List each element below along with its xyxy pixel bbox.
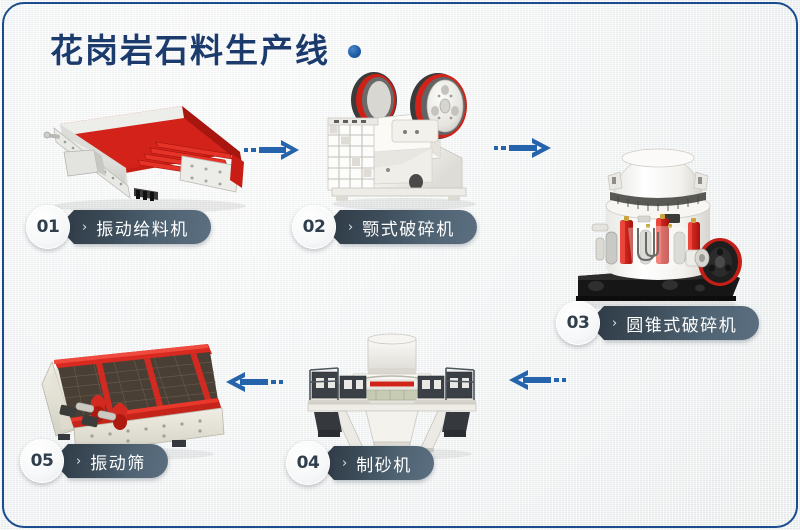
- chevron-right-icon: ›: [76, 454, 81, 469]
- step-pill-04[interactable]: › 制砂机: [318, 446, 434, 480]
- step-pill-body-02[interactable]: › 颚式破碎机: [340, 210, 477, 244]
- step-number-badge-05: 05: [20, 439, 64, 483]
- step-label-05[interactable]: 05 › 振动筛: [20, 444, 168, 478]
- chevron-right-icon: ›: [342, 456, 347, 471]
- step-label-text-04: 制砂机: [356, 451, 412, 476]
- chevron-right-icon: ›: [348, 220, 353, 235]
- step-pill-05[interactable]: › 振动筛: [52, 444, 168, 478]
- step-number-badge-02: 02: [292, 205, 336, 249]
- process-flow-diagram: 花岗岩石料生产线: [0, 0, 800, 530]
- step-label-03[interactable]: 03 › 圆锥式破碎机: [556, 306, 759, 340]
- step-label-01[interactable]: 01 › 振动给料机: [26, 210, 211, 244]
- step-label-02[interactable]: 02 › 颚式破碎机: [292, 210, 477, 244]
- arrow-04-to-05: [505, 366, 567, 399]
- arrow-01-to-02: [243, 136, 303, 169]
- step-pill-body-05[interactable]: › 振动筛: [68, 444, 168, 478]
- step-pill-body-03[interactable]: › 圆锥式破碎机: [604, 306, 759, 340]
- chevron-right-icon: ›: [82, 220, 87, 235]
- step-label-text-03: 圆锥式破碎机: [626, 311, 737, 336]
- step-pill-body-04[interactable]: › 制砂机: [334, 446, 434, 480]
- step-label-text-01: 振动给料机: [96, 215, 189, 240]
- step-number-badge-03: 03: [556, 301, 600, 345]
- page-title: 花岗岩石料生产线: [50, 24, 361, 72]
- step-pill-body-01[interactable]: › 振动给料机: [74, 210, 211, 244]
- machine-image-cone-crusher: [562, 128, 752, 318]
- step-label-text-05: 振动筛: [90, 449, 146, 474]
- step-number-badge-01: 01: [26, 205, 70, 249]
- machine-image-sand-making-machine: [292, 332, 492, 462]
- step-number-badge-04: 04: [286, 441, 330, 485]
- machine-image-jaw-crusher: [312, 72, 492, 217]
- page-title-text: 花岗岩石料生产线: [50, 24, 330, 72]
- step-label-text-02: 颚式破碎机: [362, 215, 455, 240]
- step-pill-01[interactable]: › 振动给料机: [58, 210, 211, 244]
- bullet-dot-icon: [348, 45, 361, 58]
- machine-image-vibrating-feeder: [32, 96, 262, 216]
- chevron-right-icon: ›: [612, 316, 617, 331]
- step-pill-03[interactable]: › 圆锥式破碎机: [588, 306, 759, 340]
- step-label-04[interactable]: 04 › 制砂机: [286, 446, 434, 480]
- step-pill-02[interactable]: › 颚式破碎机: [324, 210, 477, 244]
- arrow-02-to-03: [493, 134, 555, 167]
